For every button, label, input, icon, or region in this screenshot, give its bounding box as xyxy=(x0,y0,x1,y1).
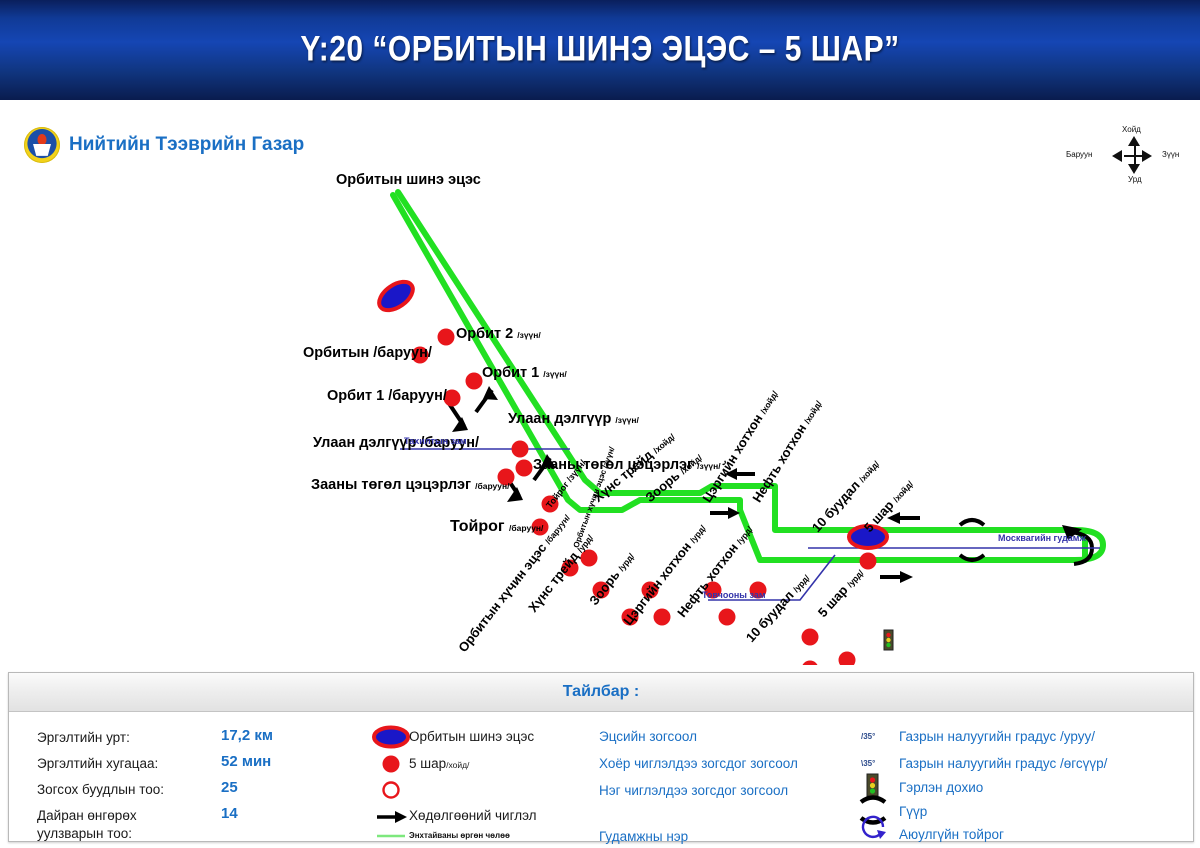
arrow-right-icon xyxy=(377,811,407,823)
legend-right-icons xyxy=(855,712,895,840)
stat-value-crossings: 14 xyxy=(221,805,238,822)
terminus-oval-icon xyxy=(374,276,418,316)
bridge-icon-map xyxy=(960,520,984,560)
legend-desc-two-way-stop: Хоёр чиглэлдээ зогсдог зогсоол xyxy=(599,756,798,771)
street-label-moskva: Москвагийн гудамж xyxy=(998,533,1086,543)
direction-arrow-up-left-icon xyxy=(476,386,498,412)
title-bar: Y:20 “ОРБИТЫН ШИНЭ ЭЦЭС – 5 ШАР” xyxy=(0,0,1200,100)
traffic-light-icon xyxy=(884,630,893,650)
stat-label-crossings-2: уулзварын тоо: xyxy=(37,826,132,841)
direction-arrow-down-right-icon xyxy=(448,402,468,432)
legend-symbol-label-direction: Хөдөлгөөний чиглэл xyxy=(409,808,537,823)
legend-panel: Тайлбар : Эргэлтийн урт: 17,2 км Эргэлти… xyxy=(8,672,1194,842)
map-label-ulaan-delguur-zuun: Улаан дэлгүүр /зүүн/ xyxy=(508,411,639,427)
map-label-orbit1-zuun: Орбит 1 /зүүн/ xyxy=(482,365,567,381)
route-map-area: Нийтийн Тээврийн Газар Хойд Урд Баруун З… xyxy=(0,100,1200,665)
legend-symbol-label-greenline: Энхтайваны өргөн чөлөө xyxy=(409,831,510,840)
stop-dot[interactable] xyxy=(802,629,819,646)
stat-value-duration: 52 мин xyxy=(221,753,271,770)
stop-dot[interactable] xyxy=(654,609,671,626)
page-title: Y:20 “ОРБИТЫН ШИНЭ ЭЦЭС – 5 ШАР” xyxy=(300,30,899,70)
stop-dot[interactable] xyxy=(438,329,455,346)
legend-body: Эргэлтийн урт: 17,2 км Эргэлтийн хугацаа… xyxy=(9,712,1193,840)
legend-desc-one-way-stop: Нэг чиглэлдээ зогсдог зогсоол xyxy=(599,783,788,798)
stop-dot[interactable] xyxy=(516,460,533,477)
legend-symbol-label-terminus: Орбитын шинэ эцэс xyxy=(409,729,534,744)
hollow-red-dot-icon xyxy=(384,783,399,798)
filled-red-dot-icon xyxy=(383,756,400,773)
stop-dot[interactable] xyxy=(839,652,856,666)
legend-label-traffic-light: Гэрлэн дохио xyxy=(899,780,983,795)
legend-label-roundabout: Аюулгүйн тойрог xyxy=(899,827,1004,842)
legend-label-bridge: Гүүр xyxy=(899,804,927,819)
map-label-terminus: Орбитын шинэ эцэс xyxy=(336,172,481,188)
stop-dot[interactable] xyxy=(802,661,819,666)
stat-value-stopcount: 25 xyxy=(221,779,238,796)
stat-label-duration: Эргэлтийн хугацаа: xyxy=(37,756,158,771)
stat-label-crossings: Дайран өнгөрөх xyxy=(37,808,137,823)
direction-arrow-left-icon-2 xyxy=(887,512,920,524)
street-label-tahiltyn: Тахилтын зам xyxy=(404,436,467,446)
legend-symbol-label-5shar: 5 шар/хойд/ xyxy=(409,756,469,771)
street-label-tovchoony: Товчооны зам xyxy=(702,590,765,600)
stop-dot[interactable] xyxy=(860,553,877,570)
bridge-icon xyxy=(861,798,885,823)
map-label-orbit2: Орбит 2 /зүүн/ xyxy=(456,326,541,342)
stat-label-stopcount: Зогсох буудлын тоо: xyxy=(37,782,164,797)
map-label-orbit1-baruun: Орбит 1 /баруун/ xyxy=(327,388,447,404)
legend-title: Тайлбар : xyxy=(563,683,639,701)
legend-header: Тайлбар : xyxy=(9,673,1193,712)
direction-arrow-right-icon-2 xyxy=(880,571,913,583)
map-label-orbityn-baruun: Орбитын /баруун/ xyxy=(303,345,432,361)
stop-dot[interactable] xyxy=(719,609,736,626)
stop-dot[interactable] xyxy=(512,441,529,458)
stop-dot[interactable] xyxy=(466,373,483,390)
stat-label-length: Эргэлтийн урт: xyxy=(37,730,130,745)
direction-arrow-right-icon-1 xyxy=(710,507,740,519)
map-label-toirog-baruun: Тойрог /баруун/ xyxy=(450,518,543,536)
stat-value-length: 17,2 км xyxy=(221,727,273,744)
map-label-zaany-togol-baruun: Зааны төгөл цэцэрлэг /баруун/ xyxy=(311,477,509,493)
legend-desc-street-name: Гудамжны нэр xyxy=(599,829,688,844)
legend-label-slope-up: Газрын налуугийн градус /өгсүүр/ xyxy=(899,756,1107,771)
legend-desc-terminal-stop: Эцсийн зогсоол xyxy=(599,729,697,744)
legend-label-slope-down: Газрын налуугийн градус /уруу/ xyxy=(899,729,1095,744)
traffic-light-icon xyxy=(867,774,878,796)
terminus-oval-icon xyxy=(374,728,408,747)
